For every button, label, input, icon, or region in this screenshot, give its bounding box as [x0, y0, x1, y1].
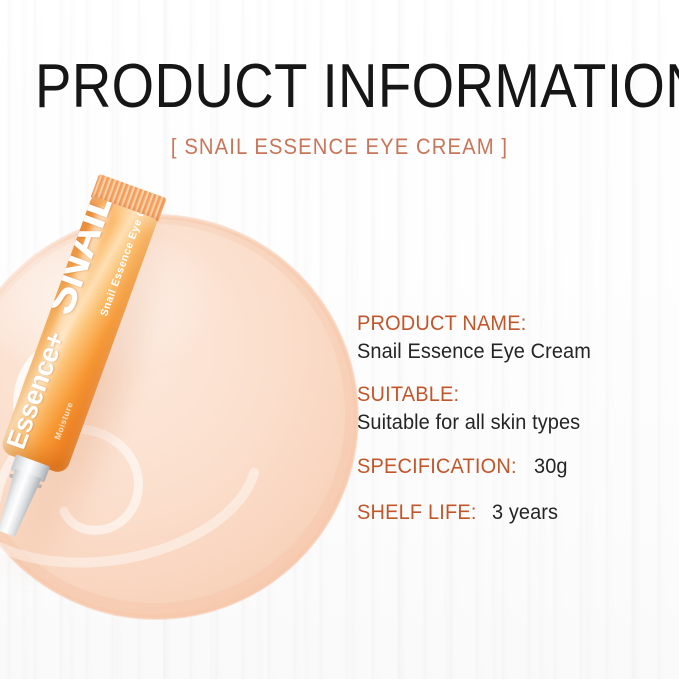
field-specification-value: 30g — [534, 452, 568, 481]
field-product-name-value: Snail Essence Eye Cream — [357, 337, 642, 366]
field-shelf-life-value: 3 years — [492, 498, 558, 527]
tube-moisture-text: Moisture — [52, 400, 75, 440]
field-shelf-life: SHELF LIFE: 3 years — [357, 498, 657, 527]
field-suitable-value: Suitable for all skin types — [357, 408, 642, 437]
page-subtitle: [ SNAIL ESSENCE EYE CREAM ] — [27, 134, 652, 160]
product-information-banner: PRODUCT INFORMATION [ SNAIL ESSENCE EYE … — [0, 0, 679, 679]
page-title: PRODUCT INFORMATION — [35, 54, 576, 120]
field-product-name-label: PRODUCT NAME: — [357, 310, 642, 337]
field-specification-label: SPECIFICATION: — [357, 453, 517, 480]
field-specification: SPECIFICATION: 30g — [357, 452, 657, 481]
product-spec-panel: PRODUCT NAME: Snail Essence Eye Cream SU… — [357, 310, 657, 544]
field-suitable-label: SUITABLE: — [357, 381, 642, 408]
field-product-name: PRODUCT NAME: Snail Essence Eye Cream — [357, 310, 657, 366]
field-suitable: SUITABLE: Suitable for all skin types — [357, 381, 657, 437]
field-shelf-life-label: SHELF LIFE: — [357, 499, 477, 526]
